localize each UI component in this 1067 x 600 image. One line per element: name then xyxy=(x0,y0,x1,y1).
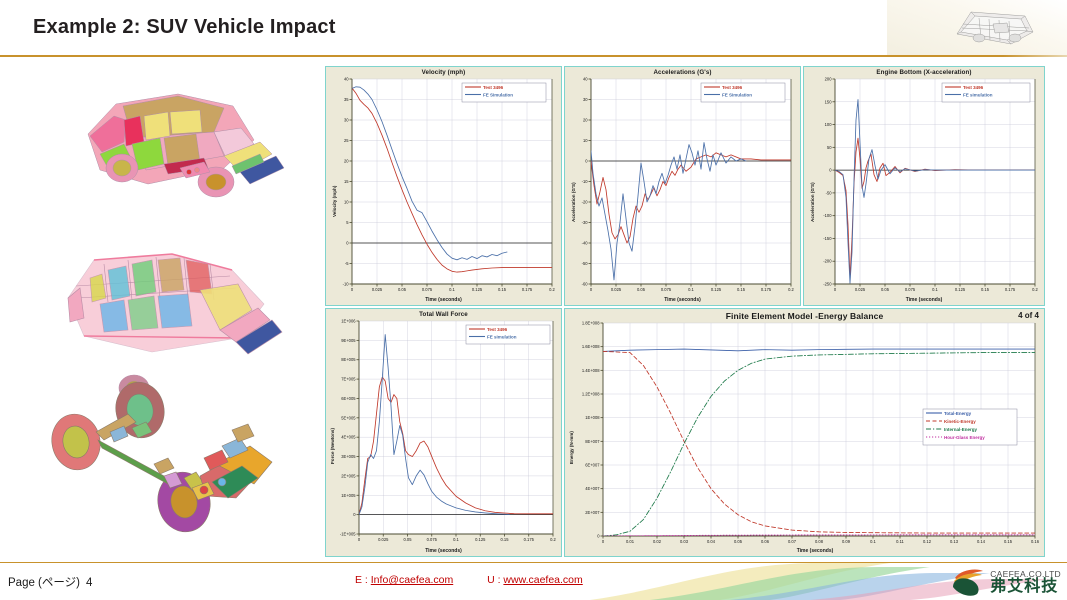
svg-text:Internal-Energy: Internal-Energy xyxy=(944,427,978,432)
svg-text:0.08: 0.08 xyxy=(815,539,824,544)
svg-text:-50: -50 xyxy=(826,190,833,195)
page-number-label: Page (ページ)4 xyxy=(8,574,92,590)
chart-xlabel-velocity: Time (seconds) xyxy=(326,297,561,303)
suv-full-body-fe-model xyxy=(28,72,308,257)
chart-panel-total-wall-force[interactable]: Total Wall Force Force (Newtons) 1E+0069… xyxy=(325,308,562,557)
chart-xlabel-accelerations: Time (seconds) xyxy=(565,297,800,303)
svg-text:-100: -100 xyxy=(823,213,832,218)
svg-text:0.05: 0.05 xyxy=(734,539,743,544)
svg-text:35: 35 xyxy=(344,97,349,102)
svg-text:0: 0 xyxy=(351,287,354,292)
svg-text:0: 0 xyxy=(346,241,349,246)
svg-text:1.2E+008: 1.2E+008 xyxy=(582,392,600,397)
svg-text:0.05: 0.05 xyxy=(404,537,413,542)
header-wireframe-car-icon xyxy=(937,2,1047,52)
svg-text:0: 0 xyxy=(602,539,605,544)
svg-text:1E+005: 1E+005 xyxy=(341,493,356,498)
svg-text:10: 10 xyxy=(583,138,588,143)
svg-text:0.2: 0.2 xyxy=(788,287,794,292)
website-link[interactable]: www.caefea.com xyxy=(503,574,582,586)
svg-text:0.15: 0.15 xyxy=(498,287,507,292)
svg-text:0.15: 0.15 xyxy=(981,287,990,292)
svg-text:5: 5 xyxy=(346,220,349,225)
svg-text:0.075: 0.075 xyxy=(422,287,433,292)
svg-text:0.175: 0.175 xyxy=(524,537,535,542)
svg-text:0.1: 0.1 xyxy=(870,539,876,544)
chart-xlabel-total-wall-force: Time (seconds) xyxy=(326,548,561,554)
svg-text:0.125: 0.125 xyxy=(472,287,483,292)
svg-text:0.2: 0.2 xyxy=(550,537,556,542)
chart-xlabel-engine-bottom: Time (seconds) xyxy=(804,297,1044,303)
svg-text:0: 0 xyxy=(597,534,600,539)
page-label-text: Page (ページ) xyxy=(8,577,80,589)
svg-text:FE Simulation: FE Simulation xyxy=(483,92,513,97)
svg-text:-250: -250 xyxy=(823,282,832,287)
svg-text:7E+005: 7E+005 xyxy=(341,377,356,382)
svg-text:9E+005: 9E+005 xyxy=(341,338,356,343)
svg-text:0.1: 0.1 xyxy=(932,287,938,292)
svg-text:4E+007: 4E+007 xyxy=(585,486,600,491)
page-number-value: 4 xyxy=(86,577,92,589)
svg-text:0.09: 0.09 xyxy=(842,539,851,544)
svg-text:Test 3496: Test 3496 xyxy=(963,85,984,90)
svg-text:25: 25 xyxy=(344,138,349,143)
svg-text:10: 10 xyxy=(344,200,349,205)
svg-text:8E+007: 8E+007 xyxy=(585,439,600,444)
svg-text:3E+005: 3E+005 xyxy=(341,454,356,459)
svg-text:0.025: 0.025 xyxy=(372,287,383,292)
svg-text:0: 0 xyxy=(590,287,593,292)
svg-text:20: 20 xyxy=(344,159,349,164)
svg-text:0.15: 0.15 xyxy=(501,537,510,542)
email-prefix: E : xyxy=(355,574,368,586)
fe-model-gallery xyxy=(18,62,318,557)
svg-text:0.1: 0.1 xyxy=(449,287,455,292)
svg-text:5E+005: 5E+005 xyxy=(341,415,356,420)
svg-text:1.8E+008: 1.8E+008 xyxy=(582,321,600,326)
svg-text:0.1: 0.1 xyxy=(453,537,459,542)
svg-text:-30: -30 xyxy=(582,220,589,225)
svg-text:1.4E+008: 1.4E+008 xyxy=(582,368,600,373)
svg-text:8E+005: 8E+005 xyxy=(341,357,356,362)
svg-text:-150: -150 xyxy=(823,236,832,241)
svg-text:-1E+005: -1E+005 xyxy=(340,532,356,537)
svg-text:0: 0 xyxy=(834,287,837,292)
svg-text:0.15: 0.15 xyxy=(1004,539,1013,544)
chart-panel-accelerations[interactable]: Accelerations (G's) Acceleration (G'S) 4… xyxy=(564,66,801,306)
chart-xlabel-energy-balance: Time (seconds) xyxy=(715,548,915,554)
svg-text:200: 200 xyxy=(825,77,833,82)
header-divider xyxy=(0,55,1067,57)
svg-text:6E+005: 6E+005 xyxy=(341,396,356,401)
svg-text:6E+007: 6E+007 xyxy=(585,463,600,468)
svg-text:0.075: 0.075 xyxy=(427,537,438,542)
svg-text:Test 3496: Test 3496 xyxy=(483,85,504,90)
svg-text:0.07: 0.07 xyxy=(788,539,797,544)
svg-text:0.05: 0.05 xyxy=(398,287,407,292)
email-link[interactable]: Info@caefea.com xyxy=(371,574,453,586)
svg-text:0.175: 0.175 xyxy=(761,287,772,292)
svg-text:0.075: 0.075 xyxy=(661,287,672,292)
svg-text:0.175: 0.175 xyxy=(1005,287,1016,292)
page-title: Example 2: SUV Vehicle Impact xyxy=(33,16,336,39)
svg-text:0.05: 0.05 xyxy=(881,287,890,292)
svg-text:2E+007: 2E+007 xyxy=(585,510,600,515)
svg-text:1E+008: 1E+008 xyxy=(585,415,600,420)
svg-text:50: 50 xyxy=(827,145,832,150)
svg-text:0: 0 xyxy=(353,512,356,517)
svg-text:0.125: 0.125 xyxy=(955,287,966,292)
svg-text:4E+005: 4E+005 xyxy=(341,435,356,440)
svg-text:20: 20 xyxy=(583,118,588,123)
svg-text:0.15: 0.15 xyxy=(737,287,746,292)
svg-text:0.11: 0.11 xyxy=(896,539,904,544)
svg-text:0.025: 0.025 xyxy=(378,537,389,542)
svg-text:0.05: 0.05 xyxy=(637,287,646,292)
contact-info: E : Info@caefea.com U : www.caefea.com xyxy=(355,574,583,586)
chart-panel-velocity[interactable]: Velocity (mph) Velocity (mph) 4035302520… xyxy=(325,66,562,306)
svg-text:0: 0 xyxy=(358,537,361,542)
svg-text:2E+005: 2E+005 xyxy=(341,473,356,478)
svg-text:30: 30 xyxy=(583,97,588,102)
company-logo: CAEFEA.CO.LTD 弗艾科技 xyxy=(951,565,1061,599)
suv-body-structure-fe-model xyxy=(24,240,309,400)
svg-text:Hour-Glass Energy: Hour-Glass Energy xyxy=(944,435,985,440)
url-prefix: U : xyxy=(487,574,500,586)
svg-text:0.14: 0.14 xyxy=(977,539,986,544)
svg-text:15: 15 xyxy=(344,179,349,184)
logo-company-cn: 弗艾科技 xyxy=(990,578,1061,594)
svg-text:0.16: 0.16 xyxy=(1031,539,1040,544)
suv-chassis-powertrain-fe-model xyxy=(36,380,311,545)
svg-text:100: 100 xyxy=(825,122,833,127)
svg-text:-10: -10 xyxy=(343,282,350,287)
svg-text:Kinetic-Energy: Kinetic-Energy xyxy=(944,419,976,424)
svg-text:-200: -200 xyxy=(823,259,832,264)
svg-text:-5: -5 xyxy=(345,261,349,266)
svg-text:0.125: 0.125 xyxy=(475,537,486,542)
svg-text:0.06: 0.06 xyxy=(761,539,770,544)
svg-text:0.02: 0.02 xyxy=(653,539,662,544)
svg-text:0.03: 0.03 xyxy=(680,539,689,544)
svg-text:0.075: 0.075 xyxy=(905,287,916,292)
svg-text:0.01: 0.01 xyxy=(626,539,635,544)
svg-text:0.04: 0.04 xyxy=(707,539,716,544)
svg-text:0.13: 0.13 xyxy=(950,539,959,544)
svg-text:0.125: 0.125 xyxy=(711,287,722,292)
svg-text:FE simulation: FE simulation xyxy=(963,92,993,97)
svg-text:-50: -50 xyxy=(582,261,589,266)
svg-text:0.12: 0.12 xyxy=(923,539,932,544)
svg-text:Test 3496: Test 3496 xyxy=(487,327,508,332)
svg-text:FE Simulation: FE Simulation xyxy=(722,92,752,97)
chart-panel-energy-balance[interactable]: Finite Element Model -Energy Balance 4 o… xyxy=(564,308,1045,557)
chart-panel-engine-bottom[interactable]: Engine Bottom (X-acceleration) Accelerat… xyxy=(803,66,1045,306)
svg-text:-40: -40 xyxy=(582,241,589,246)
svg-text:0.025: 0.025 xyxy=(855,287,866,292)
svg-text:-60: -60 xyxy=(582,282,589,287)
svg-text:0.2: 0.2 xyxy=(549,287,555,292)
svg-text:0.025: 0.025 xyxy=(611,287,622,292)
svg-text:30: 30 xyxy=(344,118,349,123)
svg-text:40: 40 xyxy=(583,77,588,82)
svg-text:1E+006: 1E+006 xyxy=(341,319,356,324)
svg-text:FE simulation: FE simulation xyxy=(487,334,517,339)
svg-text:0: 0 xyxy=(829,168,832,173)
svg-text:Total-Energy: Total-Energy xyxy=(944,411,972,416)
svg-text:40: 40 xyxy=(344,77,349,82)
svg-text:0.1: 0.1 xyxy=(688,287,694,292)
svg-text:-20: -20 xyxy=(582,200,589,205)
svg-text:-10: -10 xyxy=(582,179,589,184)
svg-text:150: 150 xyxy=(825,99,833,104)
svg-text:Test 3496: Test 3496 xyxy=(722,85,743,90)
svg-text:0.175: 0.175 xyxy=(522,287,533,292)
caefea-mark-icon xyxy=(951,567,985,597)
svg-text:1.6E+008: 1.6E+008 xyxy=(582,344,600,349)
svg-text:0: 0 xyxy=(585,159,588,164)
svg-text:0.2: 0.2 xyxy=(1032,287,1038,292)
